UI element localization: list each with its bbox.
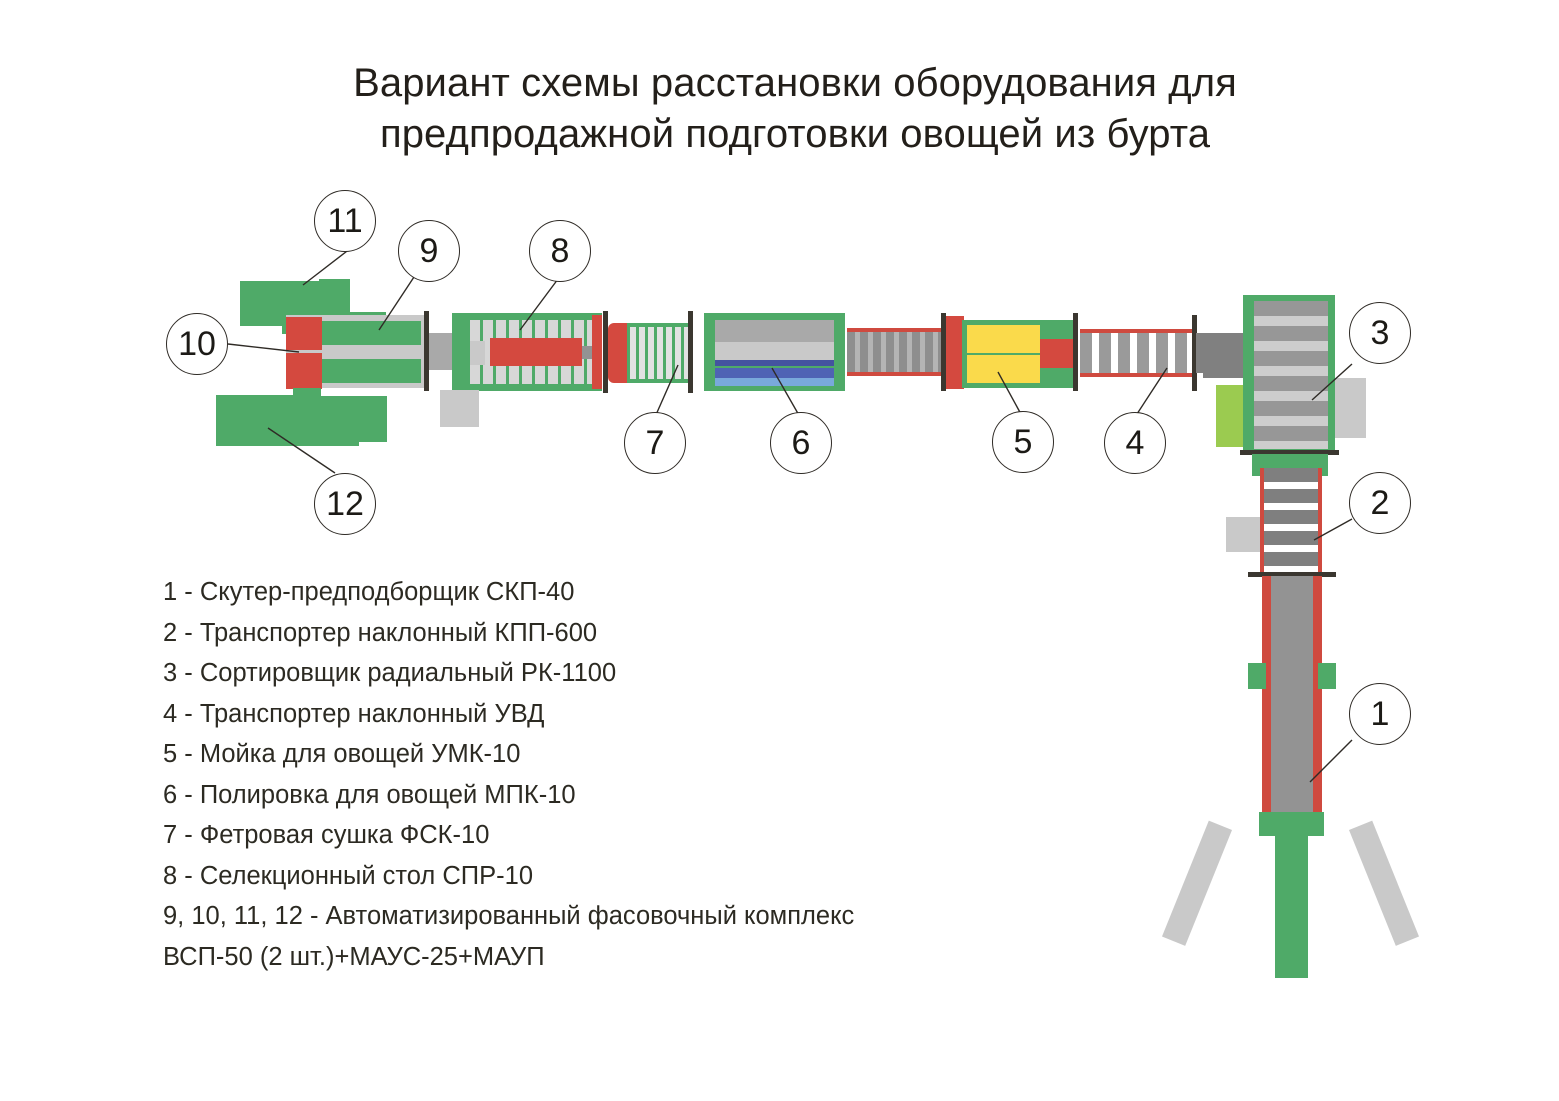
callout-11[interactable]: 11 [314, 190, 376, 252]
callout-7-label: 7 [646, 424, 665, 463]
callout-3-label: 3 [1371, 314, 1390, 353]
callout-12[interactable]: 12 [314, 473, 376, 535]
callout-10-label: 10 [178, 325, 216, 364]
diagram-canvas: Вариант схемы расстановки оборудования д… [0, 0, 1559, 1101]
callout-7[interactable]: 7 [624, 412, 686, 474]
callout-2-label: 2 [1371, 484, 1390, 523]
callout-5-label: 5 [1014, 423, 1033, 462]
callout-1[interactable]: 1 [1349, 683, 1411, 745]
callout-8-label: 8 [551, 232, 570, 271]
callout-12-label: 12 [326, 485, 364, 524]
callout-3[interactable]: 3 [1349, 302, 1411, 364]
callout-5[interactable]: 5 [992, 411, 1054, 473]
callout-9-label: 9 [420, 232, 439, 271]
callout-10[interactable]: 10 [166, 313, 228, 375]
leader-lines [0, 0, 1559, 1101]
callout-8[interactable]: 8 [529, 220, 591, 282]
callout-1-label: 1 [1371, 695, 1390, 734]
callout-4-label: 4 [1126, 424, 1145, 463]
callout-11-label: 11 [327, 202, 362, 241]
callout-2[interactable]: 2 [1349, 472, 1411, 534]
callout-6-label: 6 [792, 424, 811, 463]
callout-4[interactable]: 4 [1104, 412, 1166, 474]
callout-6[interactable]: 6 [770, 412, 832, 474]
callout-9[interactable]: 9 [398, 220, 460, 282]
